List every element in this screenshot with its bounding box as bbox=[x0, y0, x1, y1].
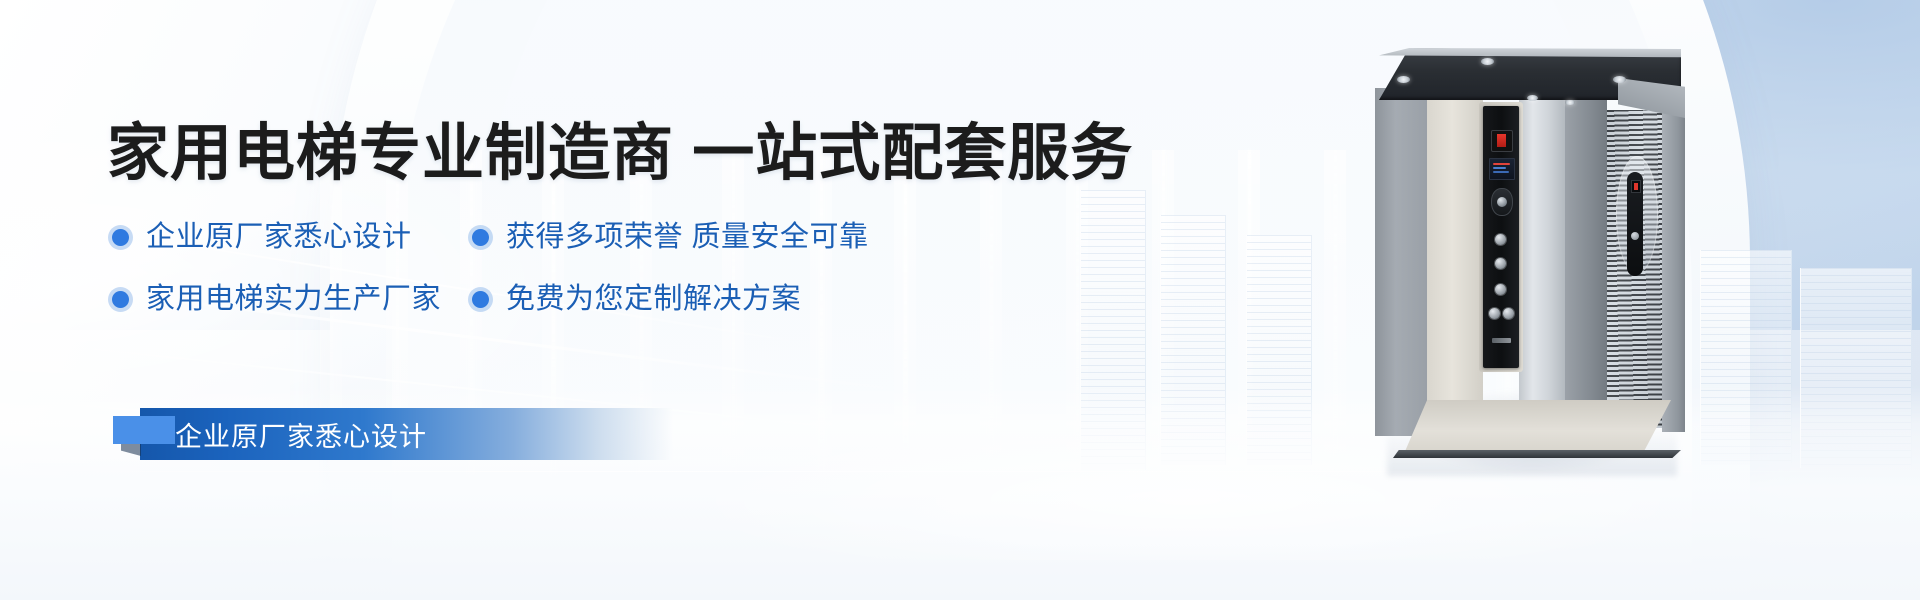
feature-label: 企业原厂家悉心设计 bbox=[146, 220, 412, 254]
ribbon-fold-icon bbox=[121, 444, 141, 456]
feature-label: 获得多项荣誉 质量安全可靠 bbox=[506, 220, 869, 254]
feature-row-2: 家用电梯实力生产厂家 免费为您定制解决方案 bbox=[112, 268, 1012, 330]
feature-row-1: 企业原厂家悉心设计 获得多项荣誉 质量安全可靠 bbox=[112, 206, 1012, 268]
feature-list: 企业原厂家悉心设计 获得多项荣誉 质量安全可靠 家用电梯实力生产厂家 免费为您定… bbox=[112, 206, 1012, 330]
page-title: 家用电梯专业制造商 一站式配套服务 bbox=[107, 118, 1133, 190]
bullet-dot-icon bbox=[472, 291, 489, 308]
bullet-dot-icon bbox=[472, 229, 489, 246]
highlight-tag: 企业原厂家悉心设计 bbox=[113, 408, 673, 460]
bullet-dot-icon bbox=[112, 291, 129, 308]
banner-content: 家用电梯专业制造商 一站式配套服务 企业原厂家悉心设计 获得多项荣誉 质量安全可… bbox=[0, 0, 1920, 600]
bullet-dot-icon bbox=[112, 229, 129, 246]
hero-banner: 家用电梯专业制造商 一站式配套服务 企业原厂家悉心设计 获得多项荣誉 质量安全可… bbox=[0, 0, 1920, 600]
feature-item-honors: 获得多项荣誉 质量安全可靠 bbox=[472, 220, 869, 254]
ribbon-icon bbox=[113, 416, 175, 444]
feature-label: 家用电梯实力生产厂家 bbox=[146, 282, 441, 316]
feature-item-solution: 免费为您定制解决方案 bbox=[472, 282, 801, 316]
feature-item-factory: 家用电梯实力生产厂家 bbox=[112, 282, 472, 316]
tag-label: 企业原厂家悉心设计 bbox=[175, 408, 427, 460]
feature-item-design: 企业原厂家悉心设计 bbox=[112, 220, 472, 254]
feature-label: 免费为您定制解决方案 bbox=[506, 282, 801, 316]
